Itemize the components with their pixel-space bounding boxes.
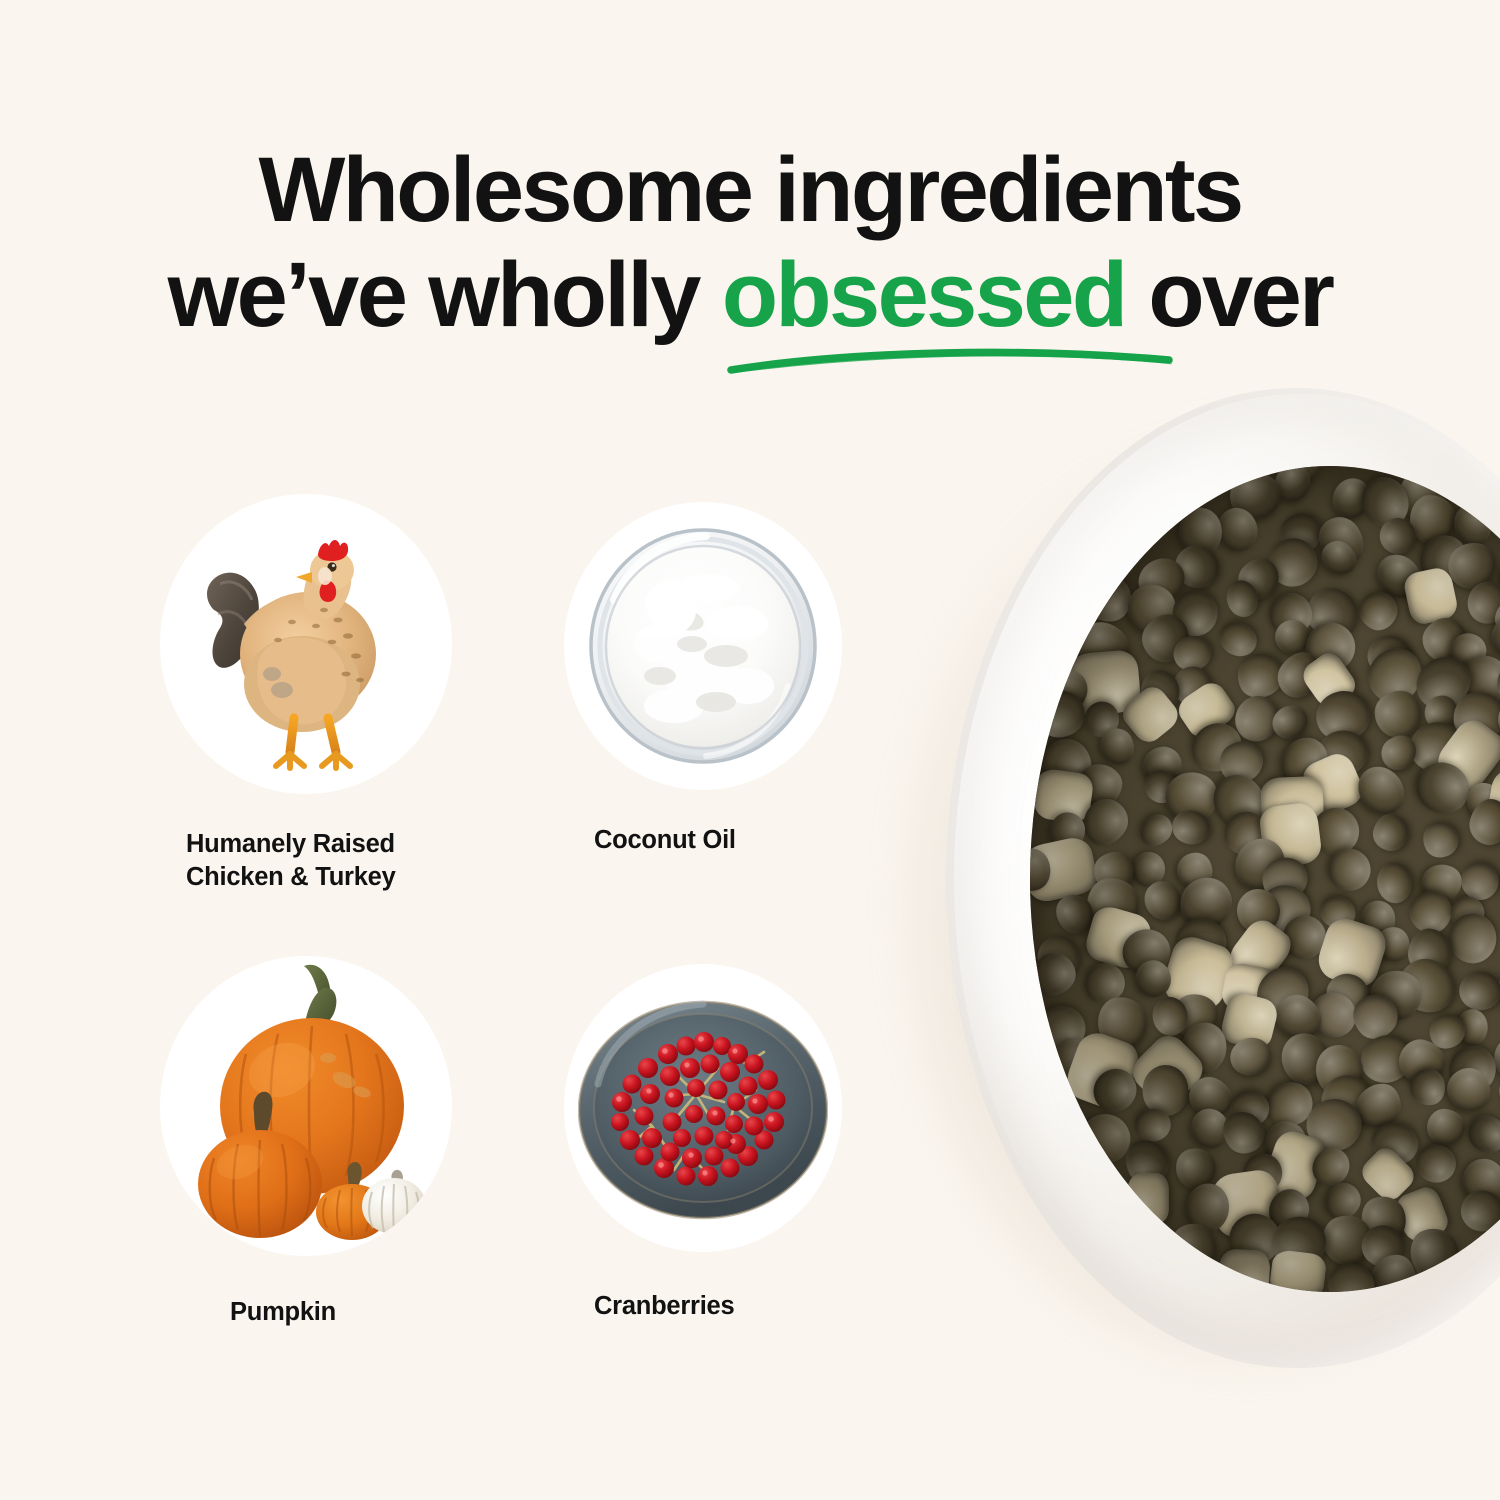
ingredient-label: Coconut Oil [564,824,842,857]
headline-line-2: we’ve wholly obsessed over [0,243,1500,348]
cranberries-image [564,964,842,1252]
headline-text-before: we’ve wholly [168,244,722,346]
ingredient-item-cranberries[interactable]: Cranberries [564,964,842,1323]
headline-text-after: over [1125,244,1332,346]
ingredient-label: Pumpkin [160,1296,452,1329]
ingredient-label: Cranberries [564,1290,842,1323]
ingredient-grid: Humanely Raised Chicken & Turkey [160,494,900,1354]
ingredient-item-pumpkin[interactable]: Pumpkin [160,956,452,1329]
ingredient-label: Humanely Raised Chicken & Turkey [160,828,452,894]
ingredient-item-chicken[interactable]: Humanely Raised Chicken & Turkey [160,494,452,894]
coconut-oil-image [564,502,842,790]
dog-food-bowl [880,380,1500,1390]
headline-highlight-word: obsessed [722,244,1126,346]
page-title: Wholesome ingredients we’ve wholly obses… [0,138,1500,348]
ingredients-promo-page: Wholesome ingredients we’ve wholly obses… [0,0,1500,1500]
pumpkin-image [160,956,452,1256]
chicken-image [160,494,452,794]
ingredient-item-coconut-oil[interactable]: Coconut Oil [564,502,842,857]
headline-line-1: Wholesome ingredients [0,138,1500,243]
